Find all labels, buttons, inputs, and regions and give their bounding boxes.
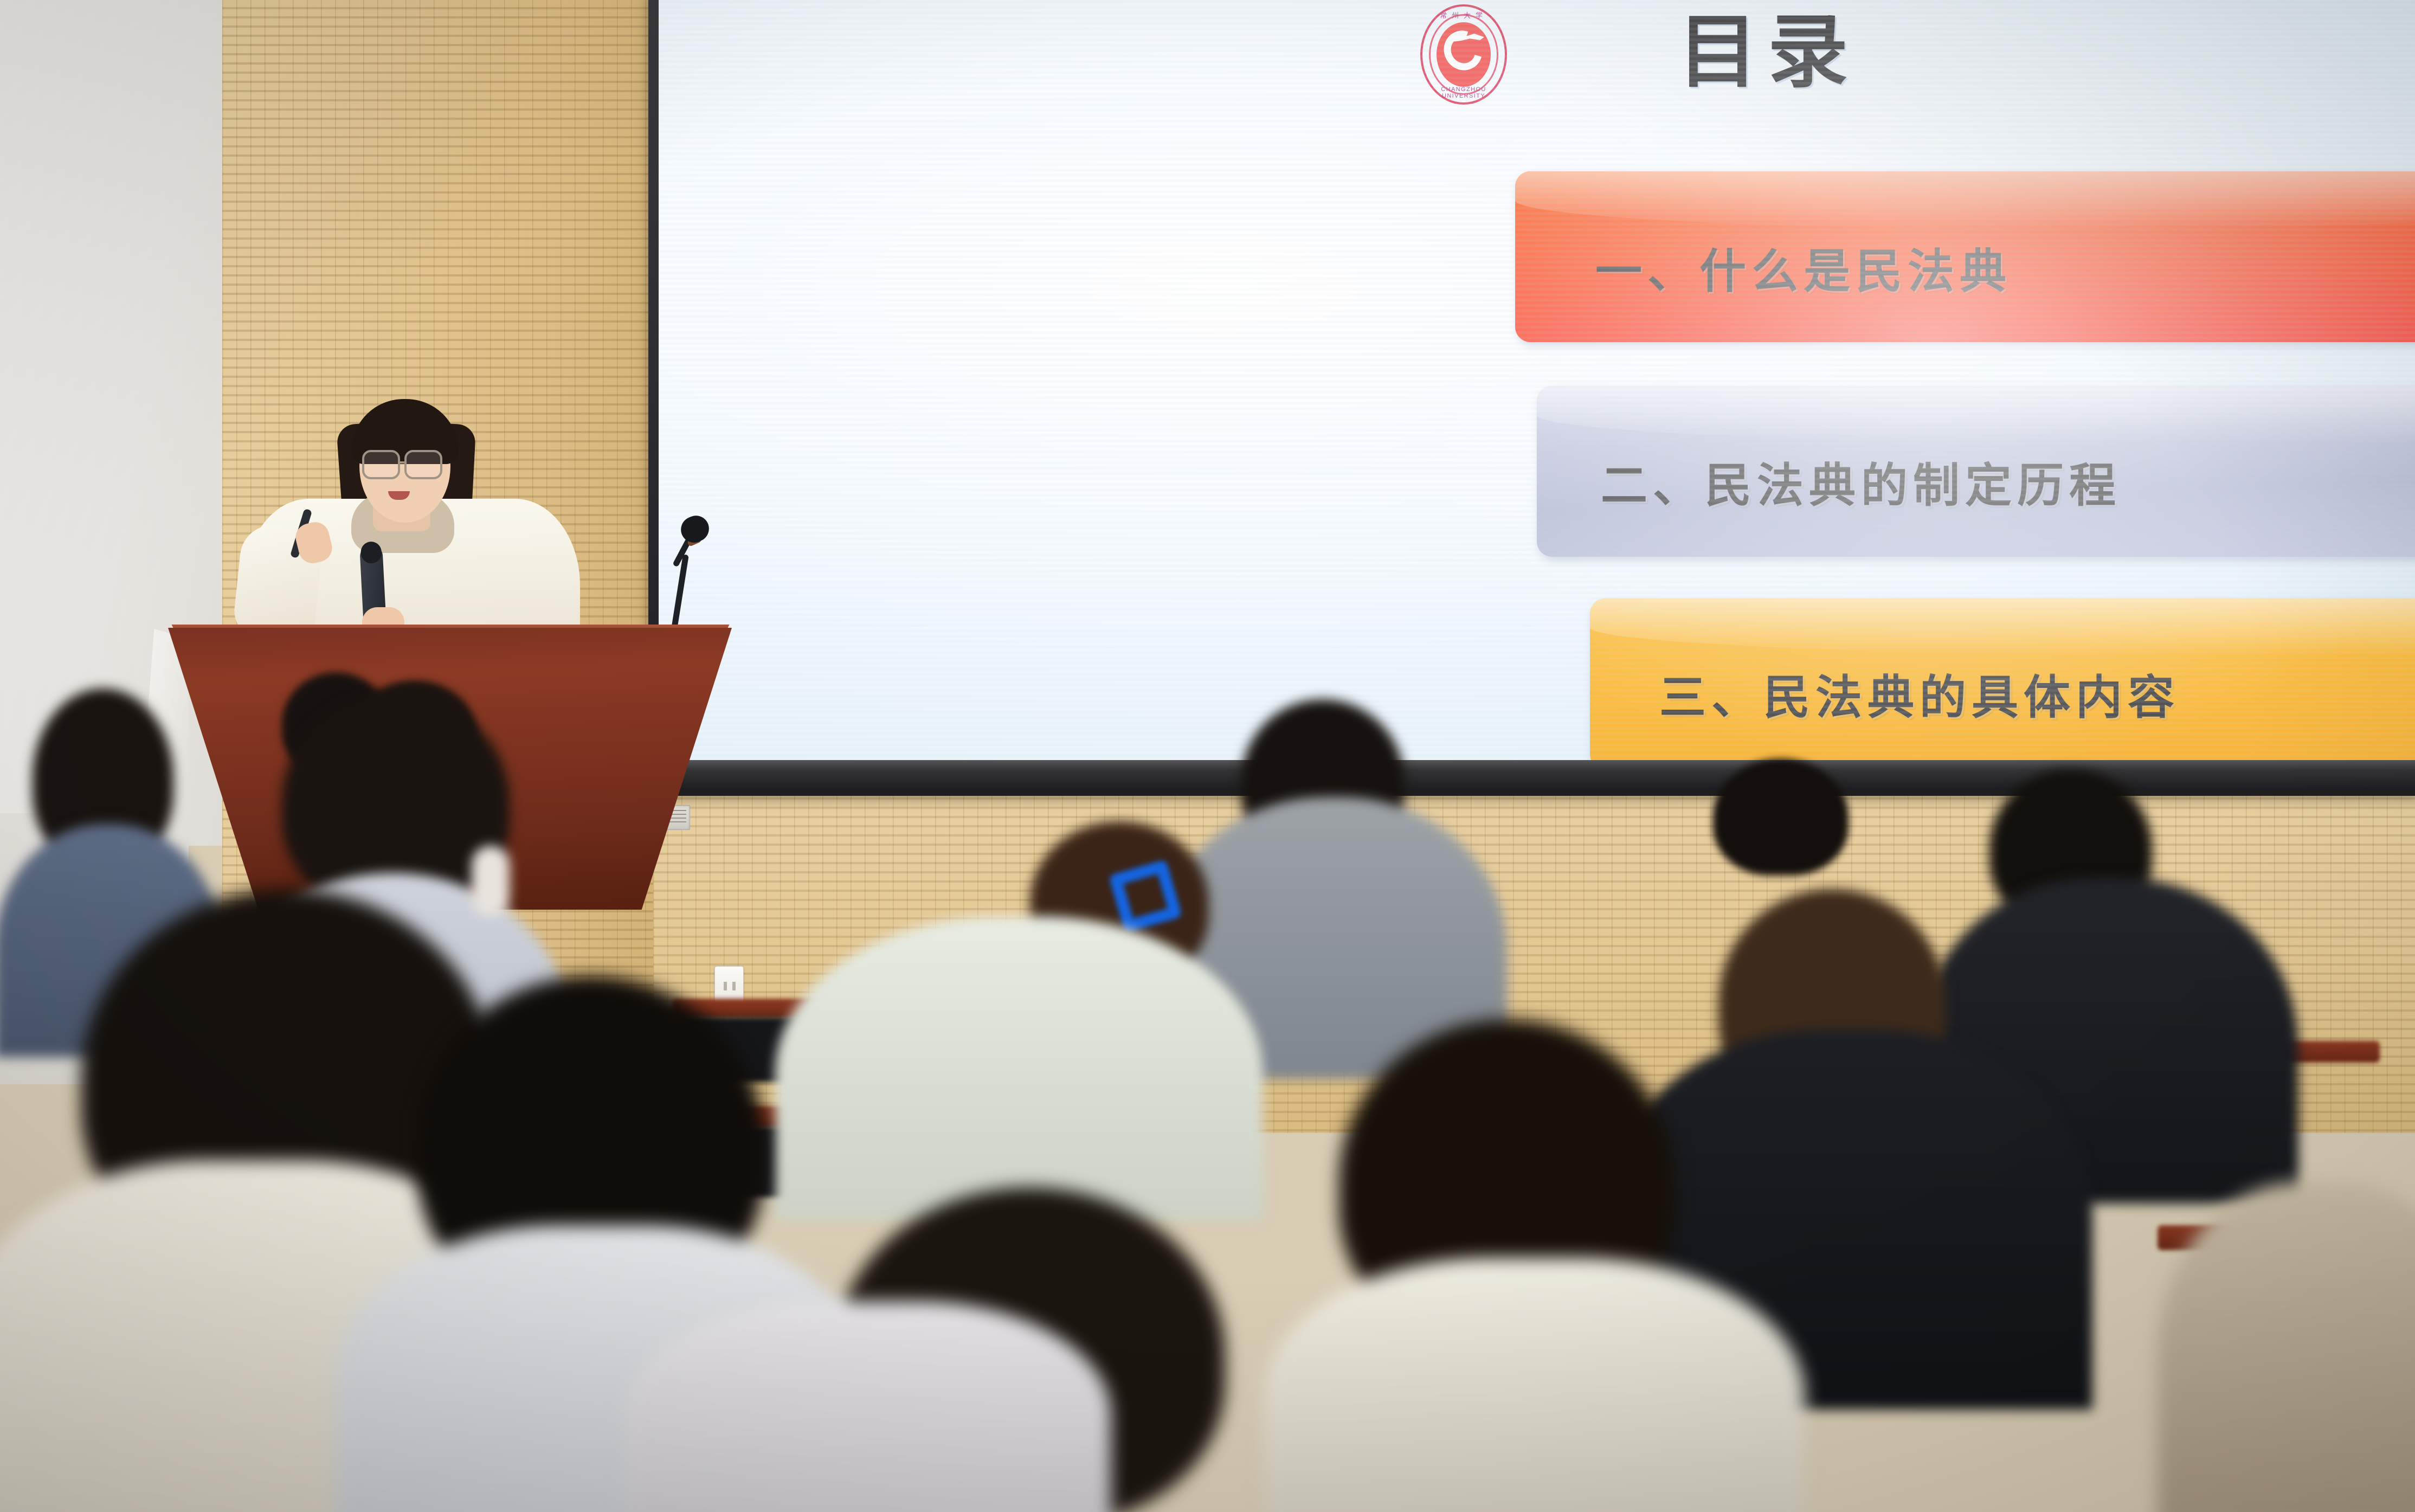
agenda-item-1[interactable]: 一、什么是民法典 bbox=[1515, 171, 2415, 342]
bar-gloss bbox=[1590, 599, 2415, 657]
audience-head bbox=[1713, 759, 1849, 876]
changzhou-university-logo: 常州大学 CHANGZHOU UNIVERSITY bbox=[1420, 4, 1507, 105]
slide-title: 目录 bbox=[1678, 12, 1858, 92]
audience-shoulders-foreground bbox=[623, 1301, 1111, 1512]
bar-gloss bbox=[1537, 386, 2415, 444]
bar-gloss bbox=[1515, 171, 2415, 229]
audience-shoulders-foreground bbox=[1263, 1258, 1805, 1512]
agenda-item-2[interactable]: 二、民法典的制定历程 bbox=[1537, 386, 2415, 557]
logo-english-name: CHANGZHOU UNIVERSITY bbox=[1420, 86, 1507, 99]
audience-fur-collar-coat bbox=[775, 916, 1263, 1220]
presentation-slide: 常州大学 CHANGZHOU UNIVERSITY 目录 一、什么是民法典 二、… bbox=[659, 0, 2415, 760]
speaker-presenter bbox=[228, 390, 596, 645]
agenda-item-1-label: 一、什么是民法典 bbox=[1595, 233, 2012, 301]
projection-screen-frame-bottom bbox=[648, 759, 2415, 790]
agenda-item-3[interactable]: 三、民法典的具体内容 bbox=[1590, 599, 2415, 760]
glasses-right-lens bbox=[404, 450, 442, 479]
face-mask bbox=[472, 846, 510, 916]
glasses-bridge bbox=[400, 461, 405, 464]
glasses-left-lens bbox=[362, 450, 400, 479]
lecture-hall-scene: 常州大学 CHANGZHOU UNIVERSITY 目录 一、什么是民法典 二、… bbox=[0, 0, 2415, 1512]
logo-chinese-name: 常州大学 bbox=[1420, 10, 1507, 20]
agenda-item-3-label: 三、民法典的具体内容 bbox=[1659, 659, 2180, 727]
agenda-item-2-label: 二、民法典的制定历程 bbox=[1601, 447, 2121, 515]
